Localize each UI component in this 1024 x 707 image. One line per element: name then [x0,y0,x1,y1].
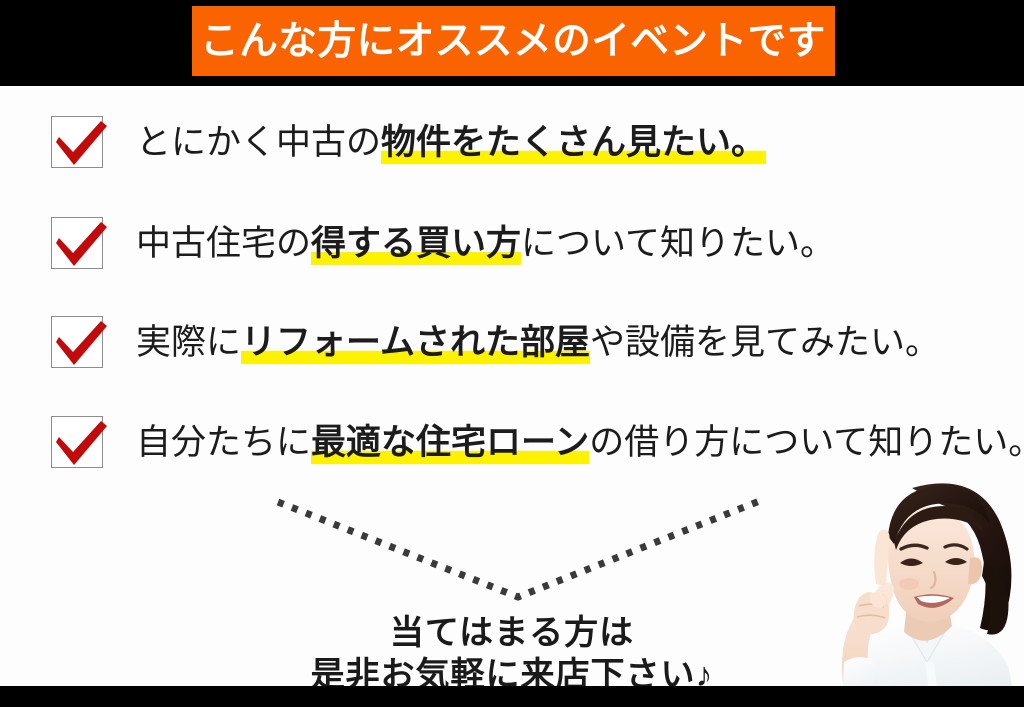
header-banner: こんな方にオススメのイベントです [192,6,835,76]
check-mark-icon [48,114,112,174]
woman-illustration [784,466,1024,707]
checklist-item-text: 自分たちに最適な住宅ローンの借り方について知りたい。 [136,425,1024,460]
checklist-item-prefix: 自分たちに [136,423,311,462]
check-mark-icon [48,314,112,374]
checklist-item-suffix: や設備を見てみたい。 [590,323,940,362]
cheek [899,578,919,590]
checklist-item-prefix: 中古住宅の [136,224,311,263]
checklist-item-highlight: 物件をたくさん見たい。 [381,123,766,164]
bottom-letterbox-bar [0,686,1024,707]
checklist-item-text: 中古住宅の得する買い方について知りたい。 [136,226,835,261]
checklist-item[interactable]: 実際にリフォームされた部屋や設備を見てみたい。 [0,306,940,378]
checklist-item-highlight: 得する買い方 [311,224,521,265]
header-title: こんな方にオススメのイベントです [201,22,827,61]
dotted-chevron-down-icon [270,492,770,607]
check-mark-icon [48,215,112,275]
checkbox-checked[interactable] [51,416,103,468]
ear [968,557,982,584]
checklist-item[interactable]: 中古住宅の得する買い方について知りたい。 [0,207,835,279]
checklist-item[interactable]: とにかく中古の物件をたくさん見たい。 [0,106,766,178]
check-mark-icon [48,414,112,474]
checklist-item-text: 実際にリフォームされた部屋や設備を見てみたい。 [136,325,940,360]
checkbox-checked[interactable] [51,316,103,368]
checklist-item-highlight: リフォームされた部屋 [241,323,590,364]
index-finger [874,530,889,586]
checklist-item-suffix: の借り方について知りたい。 [589,423,1024,462]
checklist-item-suffix: について知りたい。 [521,224,835,263]
checklist-item-highlight: 最適な住宅ローン [311,423,589,464]
checklist-item-prefix: とにかく中古の [136,123,381,162]
checklist-item-text: とにかく中古の物件をたくさん見たい。 [136,125,766,160]
checkbox-checked[interactable] [51,116,103,168]
promo-flyer: こんな方にオススメのイベントです とにかく中古の物件をたくさん見たい。 中古住宅… [0,0,1024,707]
checklist-item-prefix: 実際に [136,323,241,362]
checkbox-checked[interactable] [51,217,103,269]
photo-woman-pointing [784,466,1024,707]
